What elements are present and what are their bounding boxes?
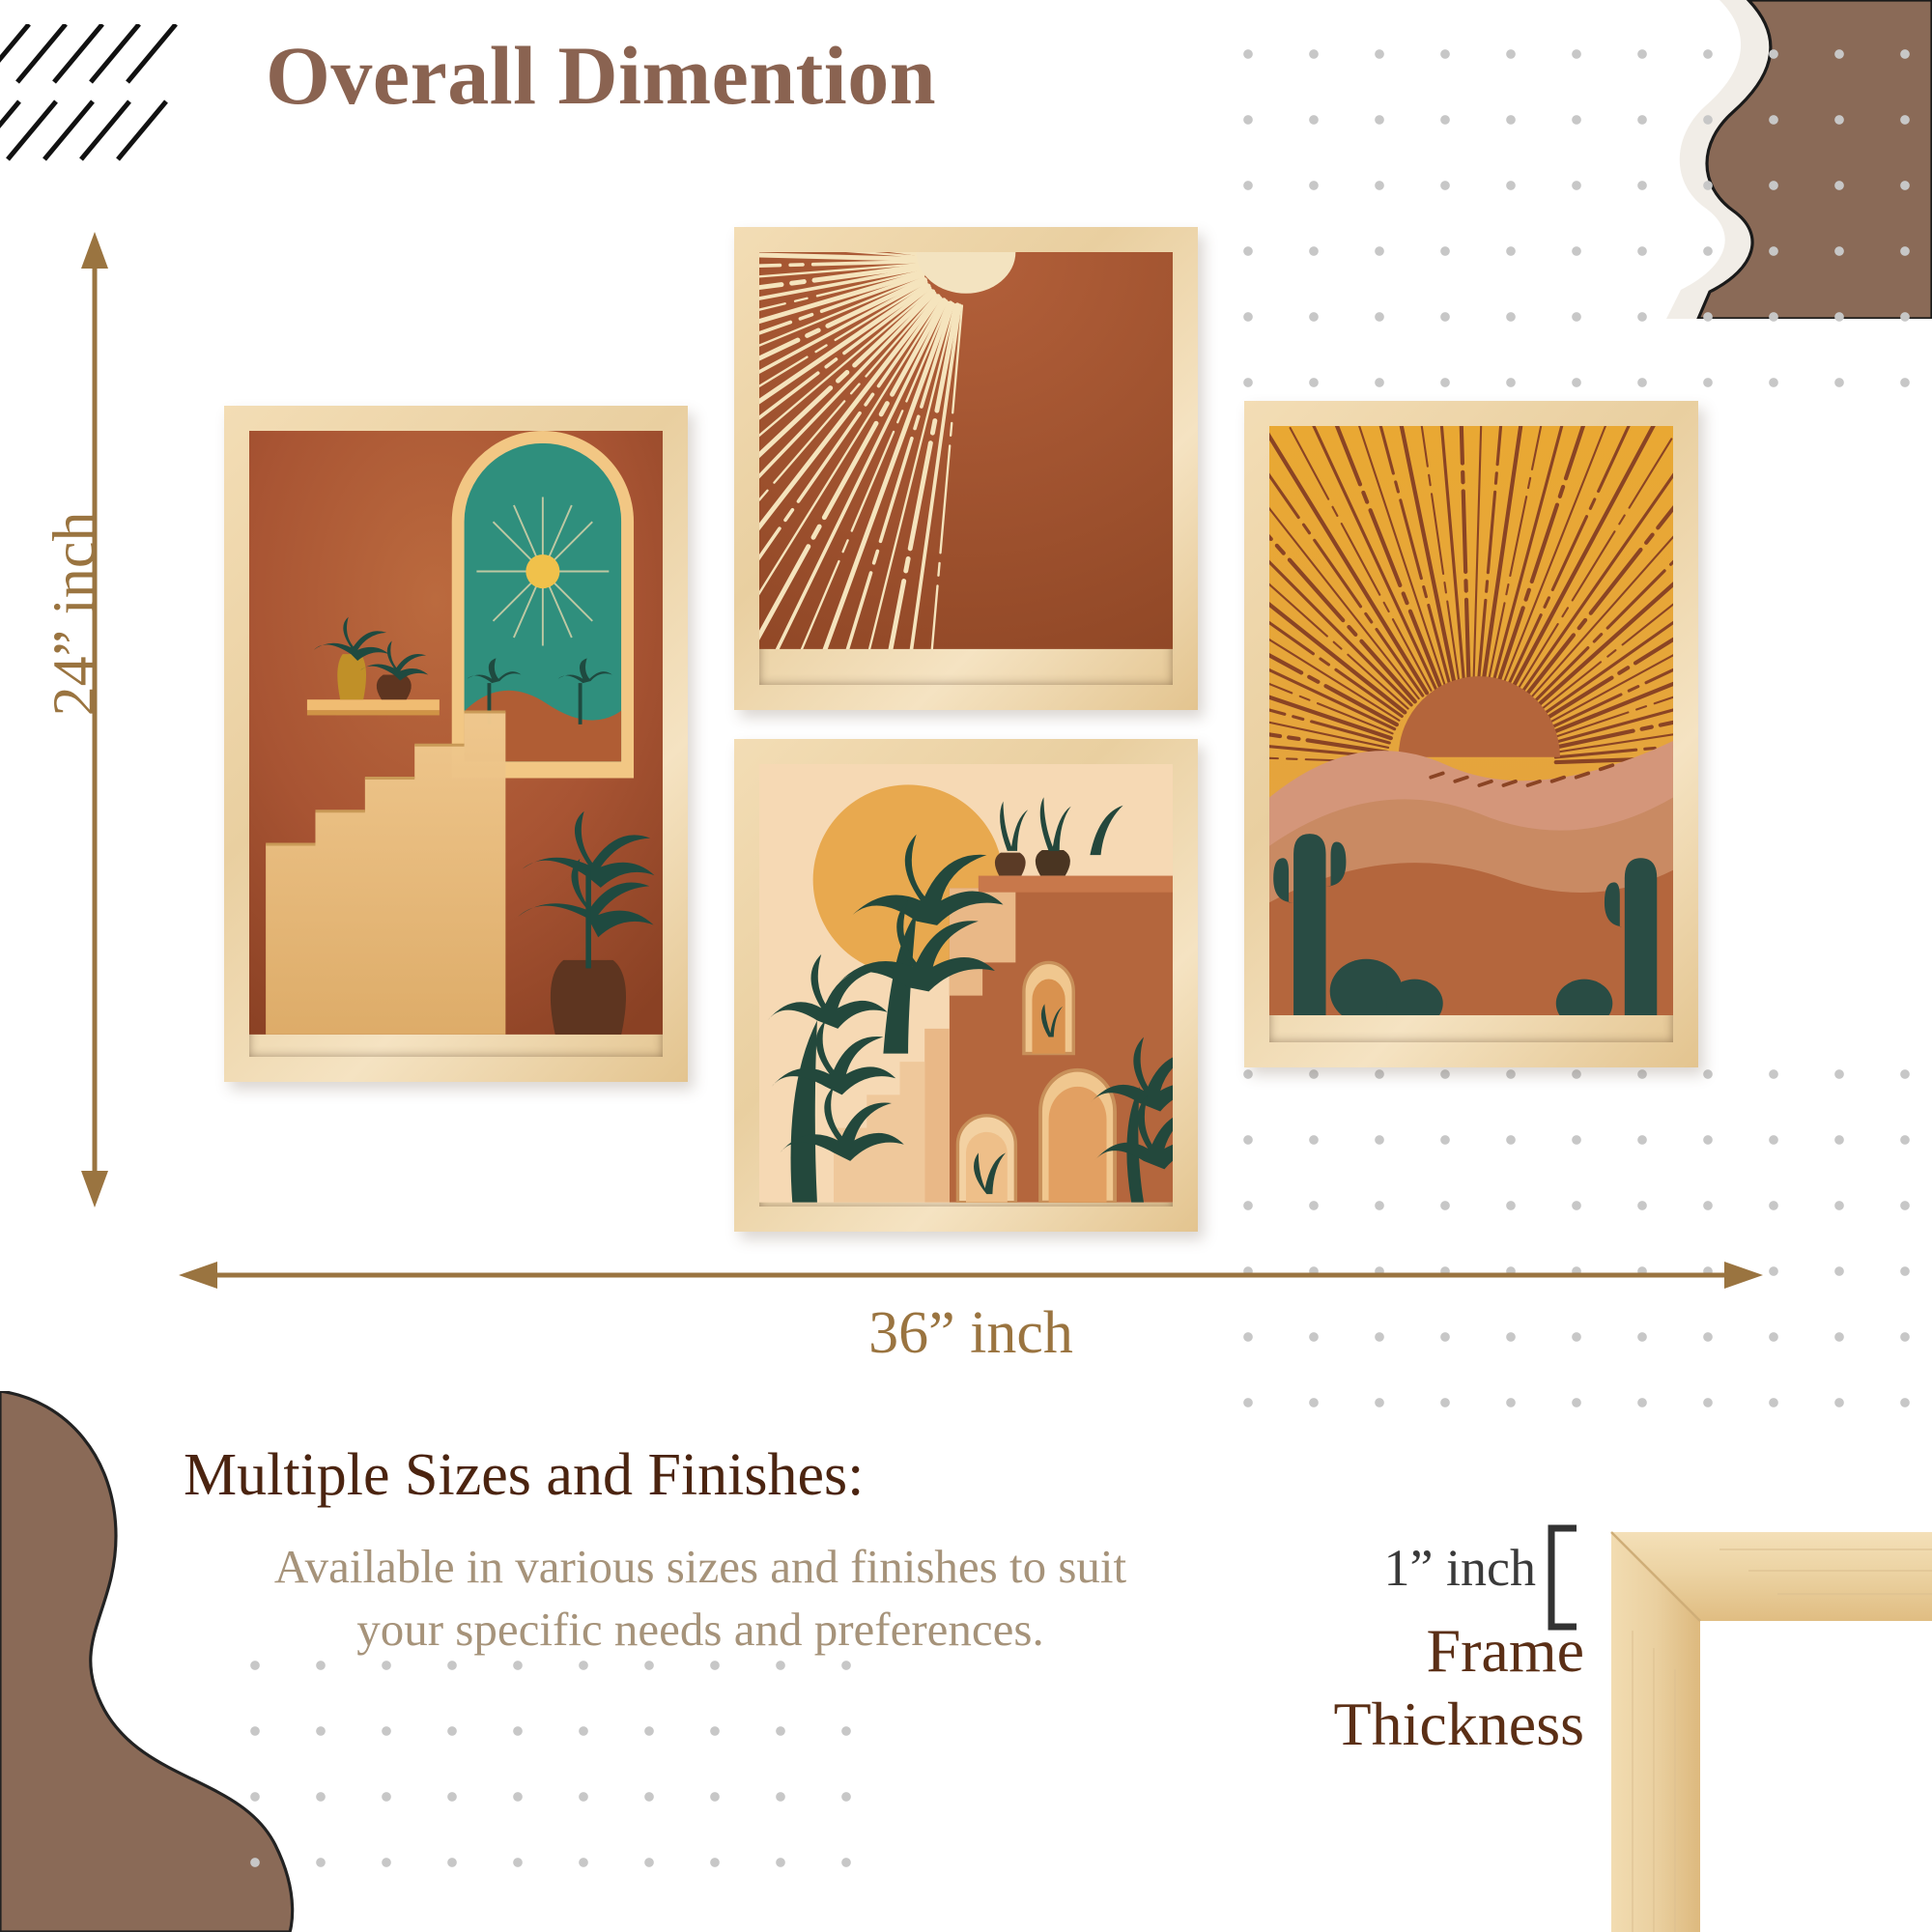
- frame-callout-word-thickness: Thickness: [1179, 1689, 1584, 1760]
- features-body-line-1: Available in various sizes and finishes …: [184, 1536, 1217, 1599]
- artwork-right-canvas: [1269, 426, 1673, 1042]
- frame-callout-word-frame: Frame: [1236, 1615, 1584, 1687]
- features-body: Available in various sizes and finishes …: [184, 1536, 1217, 1661]
- width-dimension-label: 36” inch: [179, 1299, 1763, 1368]
- height-dimension-label: 24” inch: [42, 489, 110, 740]
- features-body-line-2: your specific needs and preferences.: [184, 1599, 1217, 1662]
- hatch-lines-decoration: [0, 24, 222, 164]
- artwork-frame-left[interactable]: [224, 406, 688, 1082]
- desert-sunrise-with-cacti-art: [1269, 426, 1673, 1015]
- artwork-frame-bottom-center[interactable]: [734, 739, 1198, 1232]
- features-heading: Multiple Sizes and Finishes:: [184, 1441, 864, 1510]
- dot-grid-middle-right: [1215, 1041, 1932, 1428]
- artwork-top-center-canvas: [759, 252, 1173, 685]
- corner-blob-top-right: [1613, 0, 1932, 319]
- terracotta-sunburst-art: [759, 252, 1173, 649]
- infographic-canvas: Overall Dimention 24” inch 36” inch: [0, 0, 1932, 1932]
- terracotta-wall-with-arched-window-art: [249, 431, 663, 1035]
- artwork-frame-right[interactable]: [1244, 401, 1698, 1067]
- frame-corner-sample: [1604, 1524, 1932, 1932]
- artwork-frame-top-center[interactable]: [734, 227, 1198, 710]
- artwork-left-canvas: [249, 431, 663, 1057]
- desert-courtyard-with-plants-art: [759, 764, 1173, 1203]
- horizontal-dimension-arrow: [179, 1256, 1763, 1294]
- frame-thickness-measure-label: 1” inch: [1294, 1538, 1536, 1598]
- artwork-bottom-center-canvas: [759, 764, 1173, 1207]
- page-title: Overall Dimention: [266, 34, 936, 117]
